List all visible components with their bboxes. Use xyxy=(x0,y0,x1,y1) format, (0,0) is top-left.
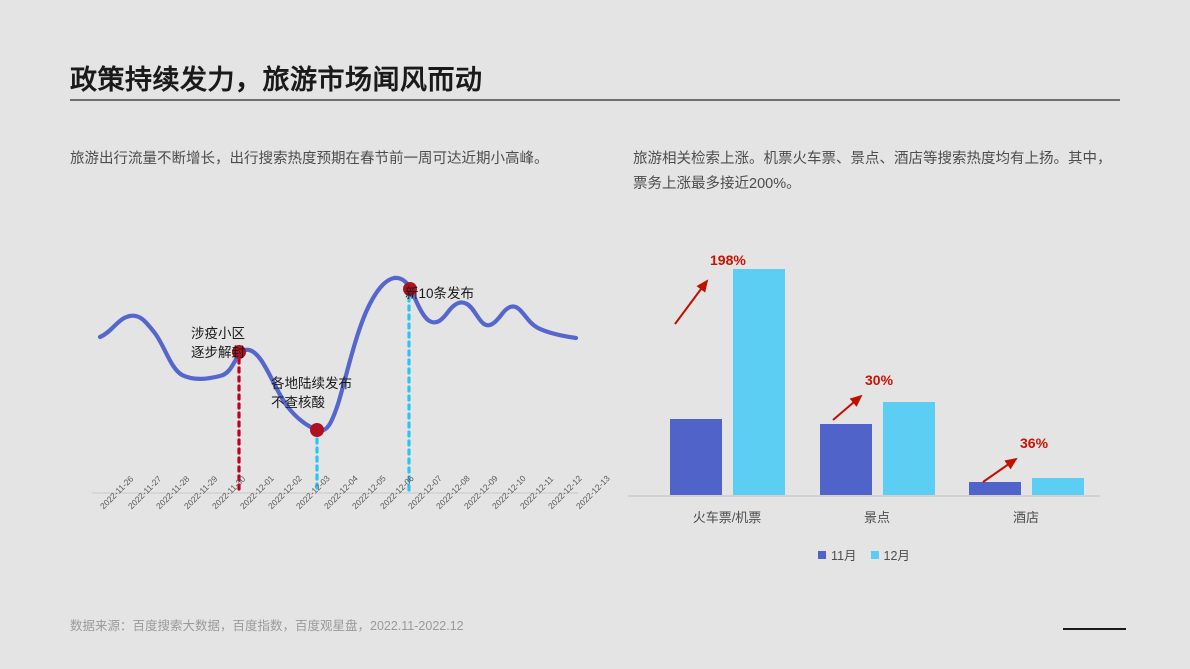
bar-chart-legend: 11月 12月 xyxy=(628,545,1100,564)
annotation-quarantine-release: 涉疫小区 逐步解封 xyxy=(191,324,245,362)
legend-label-dec: 12月 xyxy=(884,545,910,564)
line-chart-svg xyxy=(78,240,598,502)
annotation-line-2: 逐步解封 xyxy=(191,343,245,362)
lead-paragraph-left: 旅游出行流量不断增长，出行搜索热度预期在春节前一周可达近期小高峰。 xyxy=(70,147,590,172)
line-chart-x-axis-labels: 2022-11-262022-11-272022-11-282022-11-29… xyxy=(78,498,598,568)
growth-arrow-0 xyxy=(675,281,707,324)
legend-item-nov[interactable]: 11月 xyxy=(818,545,856,564)
bar-nov-1[interactable] xyxy=(820,424,872,495)
bar-chart-axis xyxy=(628,495,1100,497)
line-chart: 涉疫小区 逐步解封 各地陆续发布 不查核酸 新10条发布 2022-11-262… xyxy=(78,240,598,570)
title-divider xyxy=(70,99,1120,101)
growth-arrow-2 xyxy=(983,459,1016,482)
growth-label-2: 36% xyxy=(1020,435,1048,451)
annotation-no-pcr-test: 各地陆续发布 不查核酸 xyxy=(271,374,352,412)
bar-nov-2[interactable] xyxy=(969,482,1021,495)
event-marker-2[interactable] xyxy=(310,423,324,437)
annotation-new-ten-rules: 新10条发布 xyxy=(405,284,474,303)
legend-label-nov: 11月 xyxy=(831,545,856,564)
bar-category-label-0: 火车票/机票 xyxy=(693,507,762,526)
bar-chart: 198% 30% 36% 火车票/机票 景点 酒店 11月 12月 xyxy=(628,245,1108,575)
annotation-line-2: 不查核酸 xyxy=(271,393,352,412)
bar-chart-plot-area: 198% 30% 36% xyxy=(628,245,1108,495)
legend-swatch-nov xyxy=(818,551,826,559)
page-title: 政策持续发力，旅游市场闻风而动 xyxy=(70,58,483,97)
bar-nov-0[interactable] xyxy=(670,419,722,495)
bar-category-label-2: 酒店 xyxy=(1013,507,1039,526)
slide-root: 政策持续发力，旅游市场闻风而动 旅游出行流量不断增长，出行搜索热度预期在春节前一… xyxy=(0,0,1190,669)
legend-swatch-dec xyxy=(871,551,879,559)
growth-label-0: 198% xyxy=(710,252,746,268)
legend-item-dec[interactable]: 12月 xyxy=(871,545,910,564)
lead-paragraph-right: 旅游相关检索上涨。机票火车票、景点、酒店等搜索热度均有上扬。其中，票务上涨最多接… xyxy=(633,147,1113,197)
annotation-line-1: 各地陆续发布 xyxy=(271,374,352,393)
growth-label-1: 30% xyxy=(865,372,893,388)
data-source-note: 数据来源：百度搜索大数据，百度指数，百度观星盘，2022.11-2022.12 xyxy=(70,615,464,634)
bar-dec-2[interactable] xyxy=(1032,478,1084,495)
annotation-line-1: 新10条发布 xyxy=(405,284,474,303)
footer-accent-line xyxy=(1063,628,1126,630)
bar-category-label-1: 景点 xyxy=(864,507,890,526)
bar-dec-1[interactable] xyxy=(883,402,935,495)
bar-dec-0[interactable] xyxy=(733,269,785,495)
annotation-line-1: 涉疫小区 xyxy=(191,324,245,343)
growth-arrow-1 xyxy=(833,396,861,420)
